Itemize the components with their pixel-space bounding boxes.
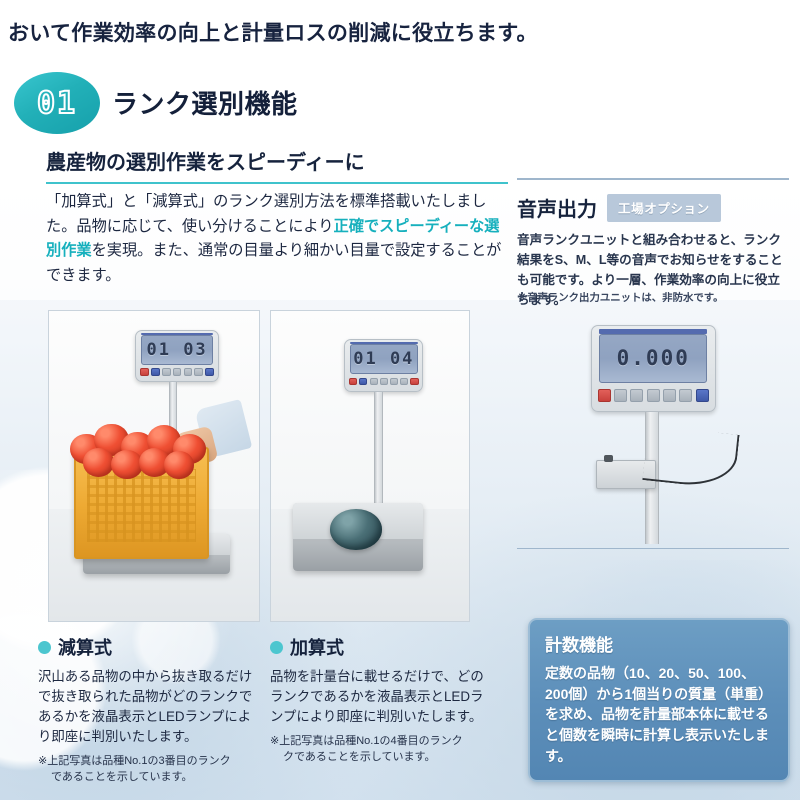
indicator-key — [410, 378, 418, 386]
caption-note-line2: クであることを示しています。 — [270, 750, 488, 766]
indicator-key — [679, 389, 692, 402]
scale-indicator: 01 03 — [135, 330, 219, 383]
indicator-screen: 01 03 — [141, 335, 213, 364]
counting-title: 計数機能 — [545, 631, 774, 656]
indicator-key — [173, 368, 182, 376]
section-title: ランク選別機能 — [112, 84, 298, 121]
indicator-digits: 0.000 — [617, 346, 690, 370]
scale-indicator: 01 04 — [344, 339, 423, 392]
melon-sample — [330, 509, 381, 549]
indicator-screen: 0.000 — [599, 334, 707, 383]
indicator-key — [194, 368, 203, 376]
indicator-key — [598, 389, 611, 402]
counting-feature-box: 計数機能 定数の品物（10、20、50、100、200個）から1個当りの質量（単… — [528, 618, 790, 782]
section-body: 「加算式」と「減算式」のランク選別方法を標準搭載いたしました。品物に応じて、使い… — [46, 190, 512, 289]
indicator-digits: 01 04 — [353, 349, 414, 369]
indicator-keypad — [598, 386, 709, 405]
crate-slots — [87, 469, 197, 542]
indicator-key — [162, 368, 171, 376]
bullet-icon — [38, 641, 51, 654]
scale-indicator: 0.000 — [591, 325, 716, 412]
indicator-digits: 01 03 — [146, 340, 207, 360]
caption-note-line2: であることを示しています。 — [38, 770, 264, 786]
photo-crate-tomatoes-scale: 01 03 — [48, 310, 260, 622]
caption-title: 減算式 — [58, 634, 112, 660]
bullet-icon — [270, 641, 283, 654]
indicator-key — [370, 378, 378, 386]
section-number-text: 01 — [37, 86, 77, 121]
unit-cable — [643, 425, 741, 489]
tomato — [164, 451, 194, 478]
indicator-key — [205, 368, 214, 376]
tomato-pile — [70, 423, 213, 473]
voice-title: 音声出力 — [517, 193, 597, 222]
caption-title-row: 加算式 — [270, 634, 488, 660]
indicator-key — [140, 368, 149, 376]
indicator-key — [696, 389, 709, 402]
photo-scene: 0.000 — [520, 316, 792, 544]
caption-subtraction-method: 減算式 沢山ある品物の中から抜き取るだけで抜き取られた品物がどのランクであるかを… — [38, 634, 264, 786]
unit-knob — [604, 455, 613, 463]
caption-note: ※上記写真は品種No.1の4番目のランク クであることを示しています。 — [270, 734, 488, 765]
caption-addition-method: 加算式 品物を計量台に載せるだけで、どのランクであるかを液晶表示とLEDランプに… — [270, 634, 488, 766]
voice-header: 音声出力 工場オプション — [517, 193, 721, 222]
indicator-key — [663, 389, 676, 402]
caption-note-line1: ※上記写真は品種No.1の3番目のランク — [38, 755, 231, 767]
indicator-key — [349, 378, 357, 386]
indicator-keypad — [140, 367, 214, 378]
photo-scene: 01 03 — [49, 311, 259, 621]
indicator-key — [184, 368, 193, 376]
caption-body: 品物を計量台に載せるだけで、どのランクであるかを液晶表示とLEDランプにより即座… — [270, 667, 488, 727]
indicator-key — [630, 389, 643, 402]
section-header: 01 ランク選別機能 — [14, 72, 534, 134]
voice-note: ※音声ランク出力ユニットは、非防水です。 — [517, 292, 791, 307]
indicator-key — [390, 378, 398, 386]
indicator-key — [400, 378, 408, 386]
indicator-key — [380, 378, 388, 386]
indicator-keypad — [349, 376, 418, 387]
indicator-key — [151, 368, 160, 376]
photo-melon-on-scale: 01 04 — [270, 310, 470, 622]
caption-body: 沢山ある品物の中から抜き取るだけで抜き取られた品物がどのランクであるかを液晶表示… — [38, 667, 264, 747]
section-body-part2: を実現。また、通常の目量より細かい目量で設定することができます。 — [46, 242, 501, 284]
counting-body: 定数の品物（10、20、50、100、200個）から1個当りの質量（単重）を求め… — [545, 663, 774, 767]
subheading: 農産物の選別作業をスピーディーに — [46, 146, 508, 184]
voice-divider-top — [517, 178, 789, 180]
caption-note-line1: ※上記写真は品種No.1の4番目のランク — [270, 735, 463, 747]
brochure-page: おいて作業効率の向上と計量ロスの削減に役立ちます。 01 ランク選別機能 農産物… — [0, 0, 800, 800]
tomato — [111, 450, 142, 479]
indicator-key — [359, 378, 367, 386]
caption-title: 加算式 — [290, 634, 344, 660]
photo-scene: 01 04 — [271, 311, 469, 621]
lead-sentence: おいて作業効率の向上と計量ロスの削減に役立ちます。 — [8, 17, 538, 47]
voice-divider-bottom — [517, 548, 789, 549]
indicator-key — [614, 389, 627, 402]
caption-title-row: 減算式 — [38, 634, 264, 660]
scale-post — [374, 392, 383, 513]
factory-option-badge: 工場オプション — [607, 194, 721, 222]
caption-note: ※上記写真は品種No.1の3番目のランク であることを示しています。 — [38, 754, 264, 785]
section-number-badge: 01 — [14, 72, 100, 134]
indicator-key — [647, 389, 660, 402]
photo-voice-rank-unit: 0.000 — [520, 316, 792, 544]
indicator-screen: 01 04 — [350, 344, 418, 373]
